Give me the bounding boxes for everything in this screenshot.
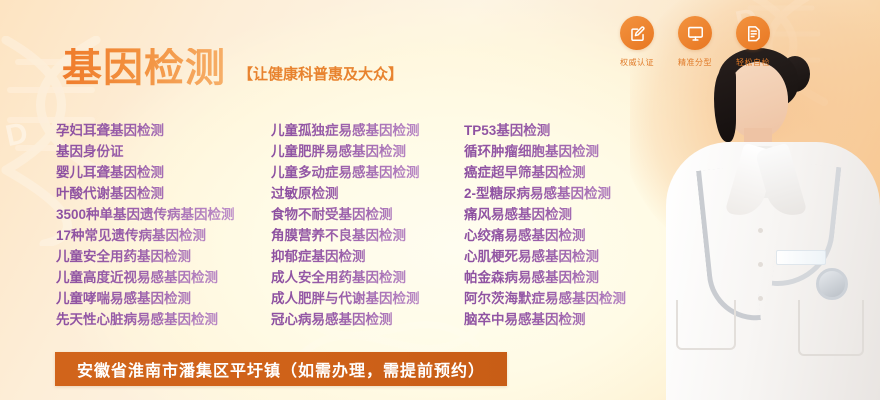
- list-item[interactable]: 冠心病易感基因检测: [271, 309, 464, 330]
- list-item[interactable]: 儿童肥胖易感基因检测: [271, 141, 464, 162]
- badge-easy-self-check[interactable]: 轻松自检: [736, 16, 770, 68]
- list-column-1: 孕妇耳聋基因检测 基因身份证 婴儿耳聋基因检测 叶酸代谢基因检测 3500种单基…: [56, 120, 271, 330]
- page-title-row: 基因检测 【让健康科普惠及大众】: [62, 48, 403, 88]
- list-item[interactable]: 食物不耐受基因检测: [271, 204, 464, 225]
- list-column-3: TP53基因检测 循环肿瘤细胞基因检测 癌症超早筛基因检测 2-型糖尿病易感基因…: [464, 120, 694, 330]
- list-item[interactable]: 基因身份证: [56, 141, 271, 162]
- list-item[interactable]: 成人安全用药基因检测: [271, 267, 464, 288]
- monitor-icon: [678, 16, 712, 50]
- list-item[interactable]: 2-型糖尿病易感基因检测: [464, 183, 694, 204]
- list-item[interactable]: 儿童安全用药基因检测: [56, 246, 271, 267]
- list-item[interactable]: 心绞痛易感基因检测: [464, 225, 694, 246]
- list-item[interactable]: 儿童高度近视易感基因检测: [56, 267, 271, 288]
- coat-pocket-right: [798, 300, 864, 356]
- badge-precise-typing[interactable]: 精准分型: [678, 16, 712, 68]
- page-title: 基因检测: [62, 48, 226, 88]
- list-item[interactable]: 循环肿瘤细胞基因检测: [464, 141, 694, 162]
- feature-badges: 权威认证 精准分型 轻松自检: [620, 16, 770, 68]
- list-item[interactable]: TP53基因检测: [464, 120, 694, 141]
- list-item[interactable]: 脑卒中易感基因检测: [464, 309, 694, 330]
- badge-label: 权威认证: [620, 57, 654, 68]
- list-item[interactable]: 儿童多动症易感基因检测: [271, 162, 464, 183]
- list-item[interactable]: 癌症超早筛基因检测: [464, 162, 694, 183]
- list-item[interactable]: 儿童孤独症易感基因检测: [271, 120, 464, 141]
- badge-label: 轻松自检: [736, 57, 770, 68]
- list-item[interactable]: 叶酸代谢基因检测: [56, 183, 271, 204]
- location-banner: 安徽省淮南市潘集区平圩镇（如需办理，需提前预约）: [55, 352, 507, 386]
- list-column-2: 儿童孤独症易感基因检测 儿童肥胖易感基因检测 儿童多动症易感基因检测 过敏原检测…: [271, 120, 464, 330]
- list-item[interactable]: 心肌梗死易感基因检测: [464, 246, 694, 267]
- corner-watermark-left: D: [3, 116, 33, 154]
- list-item[interactable]: 帕金森病易感基因检测: [464, 267, 694, 288]
- list-item[interactable]: 儿童哮喘易感基因检测: [56, 288, 271, 309]
- list-item[interactable]: 先天性心脏病易感基因检测: [56, 309, 271, 330]
- list-item[interactable]: 3500种单基因遗传病基因检测: [56, 204, 271, 225]
- list-item[interactable]: 角膜营养不良基因检测: [271, 225, 464, 246]
- doctor-name-badge: [776, 250, 826, 265]
- badge-authoritative-certification[interactable]: 权威认证: [620, 16, 654, 68]
- list-item[interactable]: 痛风易感基因检测: [464, 204, 694, 225]
- list-item[interactable]: 孕妇耳聋基因检测: [56, 120, 271, 141]
- stethoscope-bell: [816, 268, 848, 300]
- list-item[interactable]: 成人肥胖与代谢基因检测: [271, 288, 464, 309]
- coat-button: [758, 296, 763, 301]
- coat-button: [758, 262, 763, 267]
- badge-label: 精准分型: [678, 57, 712, 68]
- page-subtitle: 【让健康科普惠及大众】: [238, 63, 403, 84]
- pencil-square-icon: [620, 16, 654, 50]
- promo-poster: D D 基因检测 【让健康科普惠及大众】: [0, 0, 880, 400]
- report-document-icon: [736, 16, 770, 50]
- list-item[interactable]: 抑郁症基因检测: [271, 246, 464, 267]
- list-item[interactable]: 阿尔茨海默症易感基因检测: [464, 288, 694, 309]
- list-item[interactable]: 17种常见遗传病基因检测: [56, 225, 271, 246]
- list-item[interactable]: 婴儿耳聋基因检测: [56, 162, 271, 183]
- list-item[interactable]: 过敏原检测: [271, 183, 464, 204]
- gene-test-list: 孕妇耳聋基因检测 基因身份证 婴儿耳聋基因检测 叶酸代谢基因检测 3500种单基…: [56, 120, 694, 330]
- coat-button: [758, 228, 763, 233]
